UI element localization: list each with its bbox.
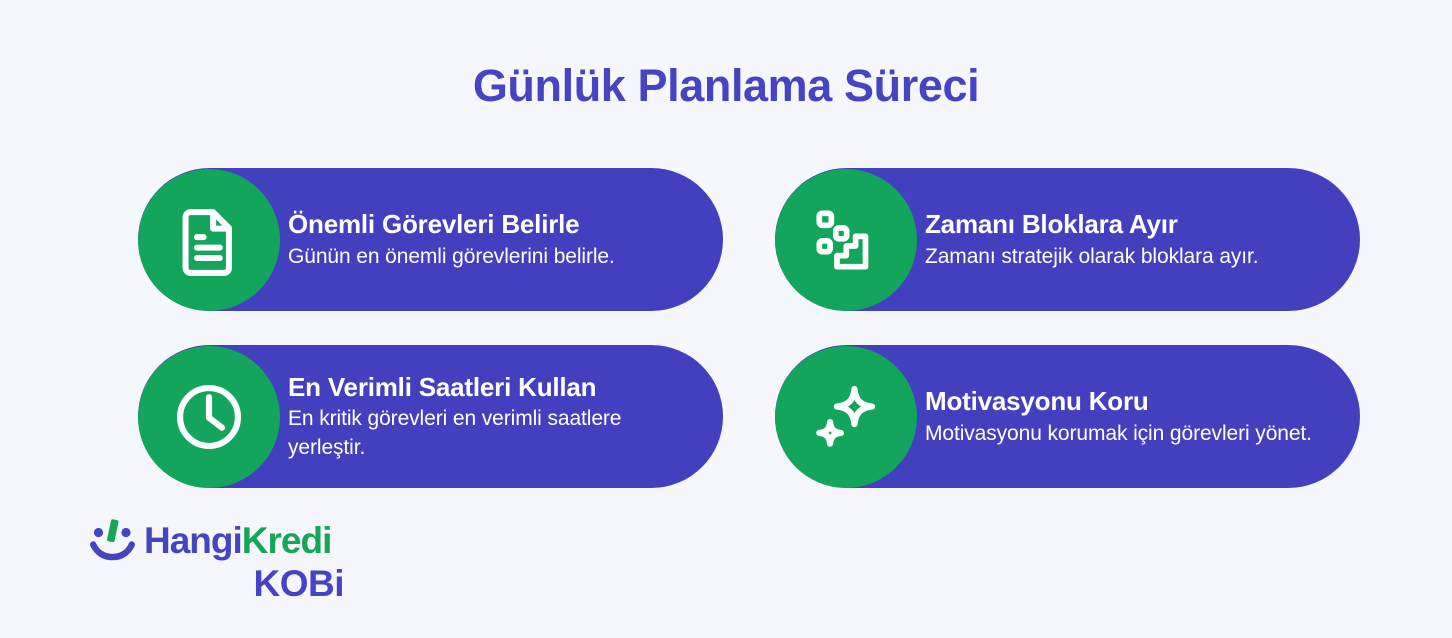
document-icon bbox=[138, 169, 280, 311]
smiley-face-logo-icon bbox=[88, 519, 138, 561]
clock-icon bbox=[138, 346, 280, 488]
page-title: Günlük Planlama Süreci bbox=[0, 62, 1452, 109]
brand-logo[interactable]: Hangi Kredi KOBi bbox=[88, 515, 388, 615]
logo-primary-row: Hangi Kredi bbox=[88, 519, 331, 561]
card-description: Günün en önemli görevlerini belirle. bbox=[288, 243, 688, 272]
card-title: Zamanı Bloklara Ayır bbox=[925, 209, 1338, 240]
card-zamani-bloklara-ayir[interactable]: Zamanı Bloklara Ayır Zamanı stratejik ol… bbox=[775, 168, 1360, 311]
card-description: En kritik görevleri en verimli saatlere … bbox=[288, 405, 688, 463]
card-title: Motivasyonu Koru bbox=[925, 386, 1338, 417]
card-en-verimli-saatleri-kullan[interactable]: En Verimli Saatleri Kullan En kritik gör… bbox=[138, 345, 723, 488]
logo-text-kobi: KOBi bbox=[88, 565, 344, 602]
card-text-block: Önemli Görevleri Belirle Günün en önemli… bbox=[288, 168, 701, 311]
blocks-steps-icon bbox=[775, 169, 917, 311]
card-text-block: Zamanı Bloklara Ayır Zamanı stratejik ol… bbox=[925, 168, 1338, 311]
logo-text-hangi: Hangi bbox=[144, 522, 242, 559]
logo-text-kredi: Kredi bbox=[242, 522, 332, 559]
card-onemli-gorevleri-belirle[interactable]: Önemli Görevleri Belirle Günün en önemli… bbox=[138, 168, 723, 311]
cards-grid: Önemli Görevleri Belirle Günün en önemli… bbox=[138, 168, 1360, 488]
card-description: Motivasyonu korumak için görevleri yönet… bbox=[925, 420, 1325, 449]
card-motivasyonu-koru[interactable]: Motivasyonu Koru Motivasyonu korumak içi… bbox=[775, 345, 1360, 488]
card-description: Zamanı stratejik olarak bloklara ayır. bbox=[925, 243, 1325, 272]
sparkle-icon bbox=[775, 346, 917, 488]
card-text-block: En Verimli Saatleri Kullan En kritik gör… bbox=[288, 345, 701, 488]
card-text-block: Motivasyonu Koru Motivasyonu korumak içi… bbox=[925, 345, 1338, 488]
card-title: Önemli Görevleri Belirle bbox=[288, 209, 701, 240]
card-title: En Verimli Saatleri Kullan bbox=[288, 372, 701, 403]
